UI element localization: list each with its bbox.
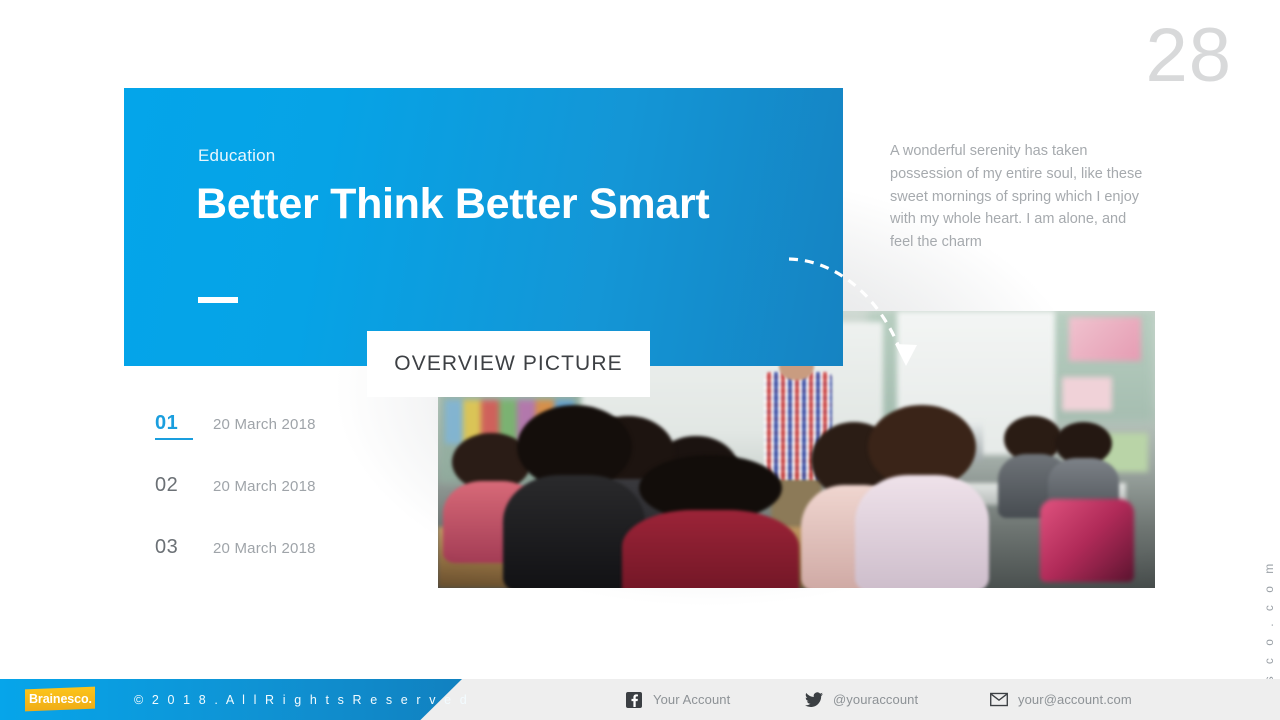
slide-footer: Brainesco. © 2 0 1 8 . A l l R i g h t s… (0, 679, 1280, 720)
timeline-date: 20 March 2018 (213, 416, 316, 433)
social-label-twitter: @youraccount (833, 692, 918, 707)
social-label-facebook: Your Account (653, 692, 730, 707)
body-paragraph: A wonderful serenity has taken possessio… (890, 140, 1148, 254)
overview-picture-label: OVERVIEW PICTURE (394, 352, 622, 376)
timeline-number: 03 (155, 536, 213, 559)
social-link-facebook[interactable]: Your Account (625, 691, 805, 709)
brainesco-logo-text: Brainesco. (29, 692, 92, 706)
timeline-number: 01 (155, 412, 213, 435)
timeline-date: 20 March 2018 (213, 540, 316, 557)
social-label-email: your@account.com (1018, 692, 1132, 707)
social-link-email[interactable]: your@account.com (990, 691, 1190, 709)
timeline-list: 01 20 March 2018 02 20 March 2018 03 20 … (155, 412, 385, 598)
timeline-date: 20 March 2018 (213, 478, 316, 495)
page-number: 28 (1145, 18, 1232, 94)
facebook-icon (625, 691, 643, 709)
hero-accent-bar (198, 297, 238, 303)
hero-headline: Better Think Better Smart (196, 175, 716, 234)
timeline-item-02[interactable]: 02 20 March 2018 (155, 474, 385, 536)
twitter-icon (805, 691, 823, 709)
mail-icon (990, 691, 1008, 709)
overview-picture-card[interactable]: OVERVIEW PICTURE (367, 331, 650, 397)
social-link-twitter[interactable]: @youraccount (805, 691, 990, 709)
social-links: Your Account @youraccount your@acco (625, 679, 1190, 720)
hero-panel: Education Better Think Better Smart (124, 88, 843, 366)
copyright-text: © 2 0 1 8 . A l l R i g h t s R e s e r … (134, 679, 469, 720)
timeline-item-03[interactable]: 03 20 March 2018 (155, 536, 385, 598)
timeline-number: 02 (155, 474, 213, 497)
brainesco-logo[interactable]: Brainesco. (25, 687, 95, 712)
timeline-item-01[interactable]: 01 20 March 2018 (155, 412, 385, 474)
presentation-slide: 28 w w w . b r a i n e s c o . c o m E (0, 0, 1280, 720)
hero-eyebrow: Education (198, 146, 275, 166)
